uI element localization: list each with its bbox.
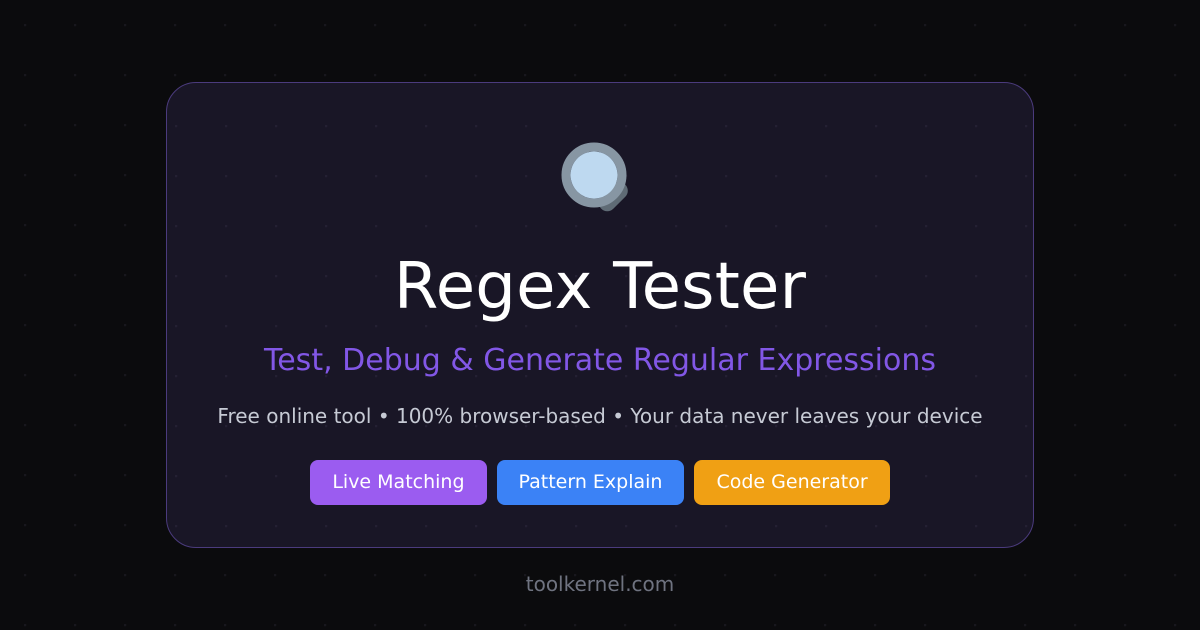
footer-domain: toolkernel.com: [0, 574, 1200, 594]
page-title: Regex Tester: [394, 255, 806, 319]
hero-card: Regex Tester Test, Debug & Generate Regu…: [166, 82, 1034, 548]
feature-button-group: Live Matching Pattern Explain Code Gener…: [310, 460, 889, 505]
live-matching-button[interactable]: Live Matching: [310, 460, 486, 505]
hero-card-content: Regex Tester Test, Debug & Generate Regu…: [167, 83, 1033, 505]
page-tagline: Free online tool • 100% browser-based • …: [217, 406, 982, 426]
code-generator-button[interactable]: Code Generator: [694, 460, 889, 505]
og-card-page: Regex Tester Test, Debug & Generate Regu…: [0, 0, 1200, 630]
page-subtitle: Test, Debug & Generate Regular Expressio…: [264, 346, 936, 376]
magnifying-glass-icon: [552, 130, 648, 226]
pattern-explain-button[interactable]: Pattern Explain: [497, 460, 685, 505]
